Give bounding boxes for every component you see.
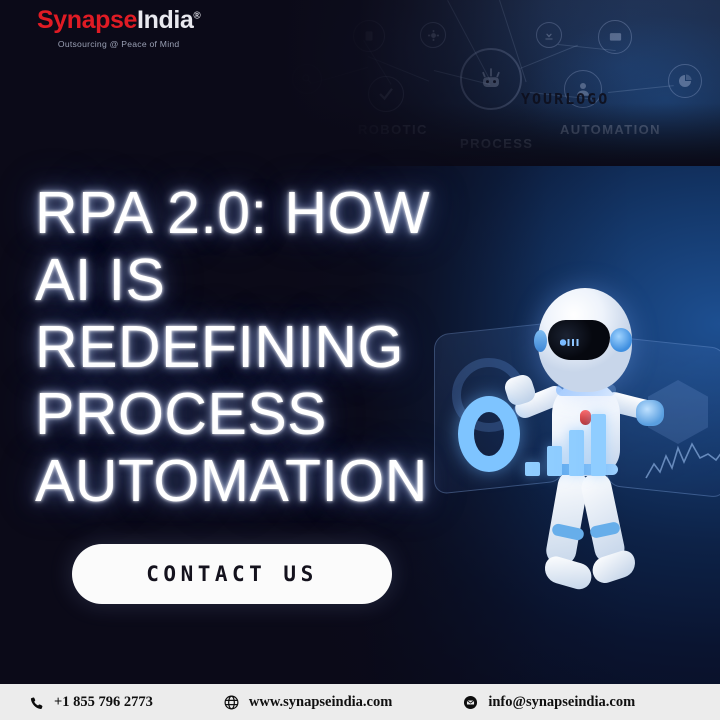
- robot-hand-right: [636, 400, 664, 426]
- footer-phone-text: +1 855 796 2773: [54, 694, 153, 711]
- page-title: RPA 2.0: HOW AI IS REDEFINING PROCESS AU…: [35, 180, 465, 515]
- bar-2: [547, 446, 562, 476]
- marketing-poster: ROBOTIC PROCESS AUTOMATION YOURLOGO: [0, 0, 720, 720]
- headline-line-3: REDEFINING: [35, 314, 465, 381]
- bar-1: [525, 462, 540, 476]
- footer-email-text: info@synapseindia.com: [488, 694, 635, 711]
- robot-illustration: [430, 280, 720, 630]
- ring-zero-shape: [458, 396, 520, 472]
- bar-3: [569, 430, 584, 476]
- robot-ear-right: [610, 328, 632, 352]
- globe-icon: [223, 694, 240, 711]
- brand-logo: SynapseIndia® Outsourcing @ Peace of Min…: [37, 8, 200, 49]
- bar-chart-graphic: [525, 414, 611, 476]
- footer-website[interactable]: www.synapseindia.com: [223, 694, 392, 711]
- footer-phone[interactable]: +1 855 796 2773: [28, 694, 153, 711]
- logo-text-synapse: Synapse: [37, 6, 137, 34]
- footer-email[interactable]: info@synapseindia.com: [462, 694, 635, 711]
- robot-foot-left: [541, 554, 594, 592]
- registered-mark-icon: ®: [193, 11, 200, 22]
- bar-4: [591, 414, 606, 476]
- logo-text-india: India: [137, 6, 193, 34]
- robot-ear-left: [534, 330, 547, 352]
- contact-us-button[interactable]: CONTACT US: [72, 544, 392, 604]
- footer-contact-bar: +1 855 796 2773 www.synapseindia.com inf…: [0, 684, 720, 720]
- headline-line-1: RPA 2.0: HOW: [35, 180, 465, 247]
- robot-visor: [548, 320, 610, 360]
- logo-wordmark: SynapseIndia®: [37, 8, 200, 33]
- headline-line-2: AI IS: [35, 247, 465, 314]
- logo-tagline: Outsourcing @ Peace of Mind: [37, 39, 200, 49]
- email-icon: [462, 694, 479, 711]
- footer-website-text: www.synapseindia.com: [249, 694, 392, 711]
- headline-line-5: AUTOMATION: [35, 448, 465, 515]
- phone-icon: [28, 694, 45, 711]
- headline-line-4: PROCESS: [35, 381, 465, 448]
